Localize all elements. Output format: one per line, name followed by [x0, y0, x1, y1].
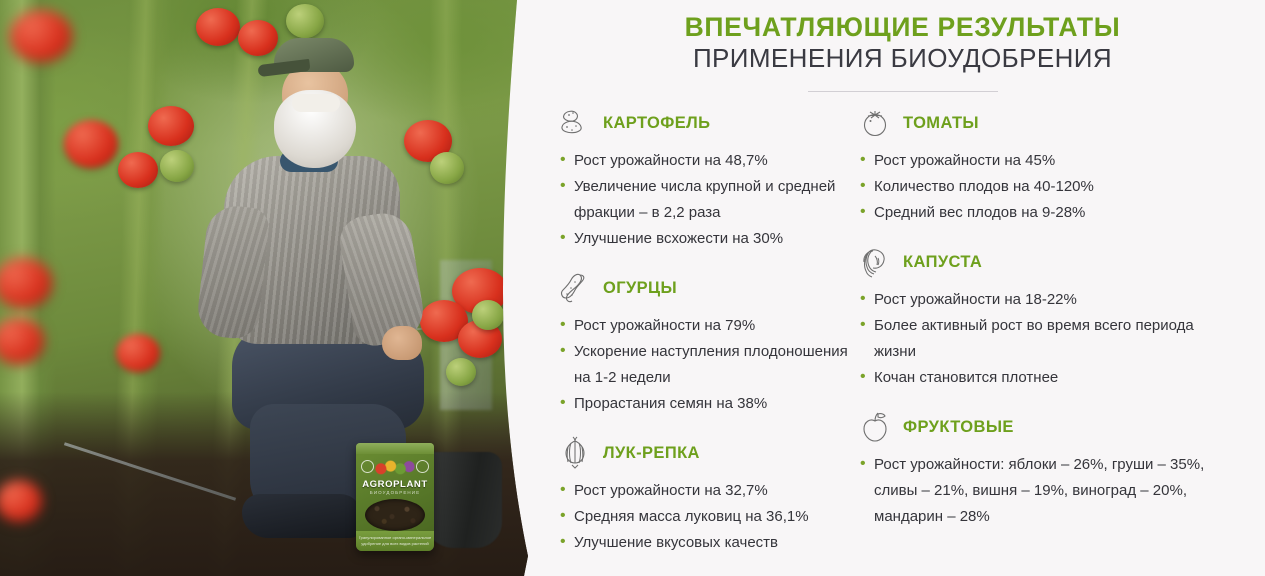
fact-item: Рост урожайности на 18-22% [858, 287, 1208, 313]
garden-bucket [424, 452, 502, 548]
crop-title-fruits: ФРУКТОВЫЕ [903, 418, 1014, 437]
package-brand-name: AGROPLANT [356, 479, 434, 490]
tomato-fruit [10, 10, 72, 62]
column-right: ТОМАТЫ Рост урожайности на 45% Количеств… [858, 106, 1208, 575]
content-panel: ВПЕЧАТЛЯЮЩИЕ РЕЗУЛЬТАТЫ ПРИМЕНЕНИЯ БИОУД… [540, 0, 1265, 576]
crop-facts-tomato: Рост урожайности на 45% Количество плодо… [858, 148, 1208, 226]
crop-title-cabbage: КАПУСТА [903, 253, 982, 272]
crop-header-cabbage: КАПУСТА [858, 245, 1208, 279]
crop-facts-fruits: Рост урожайности: яблоки – 26%, груши – … [858, 452, 1208, 530]
crop-title-tomato: ТОМАТЫ [903, 114, 979, 133]
crop-facts-onion: Рост урожайности на 32,7% Средняя масса … [558, 478, 858, 556]
crop-block-tomato: ТОМАТЫ Рост урожайности на 45% Количеств… [858, 106, 1208, 226]
cabbage-icon [858, 245, 892, 279]
cucumber-icon [558, 271, 592, 305]
title-line-2: ПРИМЕНЕНИЯ БИОУДОБРЕНИЯ [540, 42, 1265, 74]
crop-header-tomato: ТОМАТЫ [858, 106, 1208, 140]
crop-header-onion: ЛУК-РЕПКА [558, 436, 858, 470]
fact-item: Увеличение числа крупной и средней фракц… [558, 174, 858, 226]
fact-item: Кочан становится плотнее [858, 365, 1208, 391]
crop-block-onion: ЛУК-РЕПКА Рост урожайности на 32,7% Сред… [558, 436, 858, 556]
fact-item: Рост урожайности на 48,7% [558, 148, 858, 174]
crop-block-cabbage: КАПУСТА Рост урожайности на 18-22% Более… [858, 245, 1208, 391]
fact-item: Средний вес плодов на 9-28% [858, 200, 1208, 226]
crop-facts-cucumber: Рост урожайности на 79% Ускорение наступ… [558, 313, 858, 417]
page-title: ВПЕЧАТЛЯЮЩИЕ РЕЗУЛЬТАТЫ ПРИМЕНЕНИЯ БИОУД… [540, 0, 1265, 92]
column-left: КАРТОФЕЛЬ Рост урожайности на 48,7% Увел… [558, 106, 858, 575]
crop-title-onion: ЛУК-РЕПКА [603, 444, 700, 463]
crop-title-cucumber: ОГУРЦЫ [603, 279, 677, 298]
gardener-shoe [242, 494, 362, 538]
tomato-fruit [64, 120, 118, 168]
tomato-fruit [118, 152, 158, 188]
fact-item: Рост урожайности на 32,7% [558, 478, 858, 504]
package-top-seal [356, 443, 434, 454]
onion-icon [558, 436, 592, 470]
fact-item: Рост урожайности на 45% [858, 148, 1208, 174]
fact-item: Рост урожайности: яблоки – 26%, груши – … [858, 452, 1208, 530]
results-columns: КАРТОФЕЛЬ Рост урожайности на 48,7% Увел… [540, 92, 1265, 575]
crop-title-potato: КАРТОФЕЛЬ [603, 114, 710, 133]
crop-facts-cabbage: Рост урожайности на 18-22% Более активны… [858, 287, 1208, 391]
crop-header-potato: КАРТОФЕЛЬ [558, 106, 858, 140]
crop-block-potato: КАРТОФЕЛЬ Рост урожайности на 48,7% Увел… [558, 106, 858, 252]
package-granule-window [365, 499, 425, 531]
fact-item: Улучшение всхожести на 30% [558, 226, 858, 252]
package-footer-text: Гранулированное органо-минеральное удобр… [356, 535, 434, 547]
tomato-fruit-green [286, 4, 324, 38]
tomato-fruit-green [472, 300, 504, 330]
crop-header-cucumber: ОГУРЦЫ [558, 271, 858, 305]
potato-icon [558, 106, 592, 140]
greenhouse-photo: AGROPLANT БИОУДОБРЕНИЕ Гранулированное о… [0, 0, 540, 576]
fact-item: Средняя масса луковиц на 36,1% [558, 504, 858, 530]
crop-header-fruits: ФРУКТОВЫЕ [858, 410, 1208, 444]
tomato-icon [858, 106, 892, 140]
fact-item: Ускорение наступления плодоношения на 1-… [558, 339, 858, 391]
fact-item: Прорастания семян на 38% [558, 391, 858, 417]
crop-facts-potato: Рост урожайности на 48,7% Увеличение чис… [558, 148, 858, 252]
fact-item: Более активный рост во время всего перио… [858, 313, 1208, 365]
fact-item: Рост урожайности на 79% [558, 313, 858, 339]
package-badge-right [416, 460, 429, 473]
crop-block-fruits: ФРУКТОВЫЕ Рост урожайности: яблоки – 26%… [858, 410, 1208, 530]
fact-item: Улучшение вкусовых качеств [558, 530, 858, 556]
package-footer-line-2: удобрение для всех видов растений [356, 541, 434, 547]
fact-item: Количество плодов на 40-120% [858, 174, 1208, 200]
package-vegetables-art [373, 458, 417, 476]
tomato-fruit-green [160, 150, 194, 182]
infographic-root: AGROPLANT БИОУДОБРЕНИЕ Гранулированное о… [0, 0, 1265, 576]
tomato-fruit [116, 334, 160, 372]
product-package: AGROPLANT БИОУДОБРЕНИЕ Гранулированное о… [356, 443, 434, 551]
gardener-hand [382, 326, 422, 360]
tomato-fruit [148, 106, 194, 146]
crop-block-cucumber: ОГУРЦЫ Рост урожайности на 79% Ускорение… [558, 271, 858, 417]
apple-icon [858, 410, 892, 444]
package-subtitle: БИОУДОБРЕНИЕ [356, 490, 434, 495]
gardener-mustache [292, 94, 340, 112]
title-line-1: ВПЕЧАТЛЯЮЩИЕ РЕЗУЛЬТАТЫ [540, 12, 1265, 42]
